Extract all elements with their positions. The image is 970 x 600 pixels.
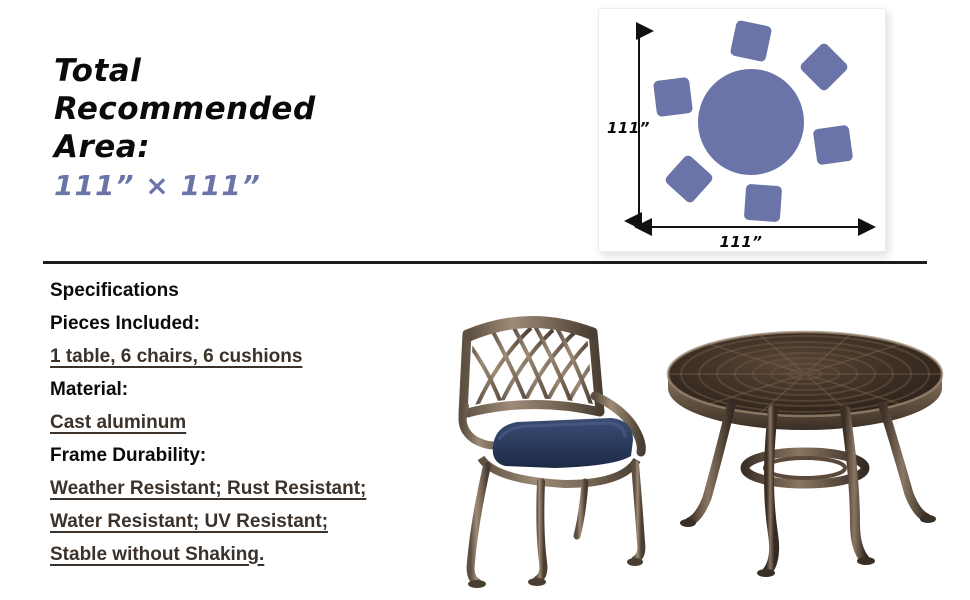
- table-leg-back-left: [689, 406, 731, 522]
- spec-value-pieces: 1 table, 6 chairs, 6 cushions: [50, 340, 470, 373]
- spec-label-material-text: Material:: [50, 379, 128, 401]
- headline-line-3: Area:: [54, 128, 474, 166]
- specifications-block: Specifications Pieces Included: 1 table,…: [50, 274, 470, 571]
- diagram-chair-5: [664, 154, 715, 205]
- table-foot-front-right: [857, 557, 875, 565]
- headline-line-2: Recommended: [54, 90, 474, 128]
- spec-label-durability-text: Frame Durability:: [50, 445, 206, 467]
- spec-value-material-text: Cast aluminum: [50, 412, 186, 434]
- diagram-chair-3: [813, 125, 854, 166]
- spec-label-durability: Frame Durability:: [50, 439, 470, 472]
- spec-value-durability-line1: Weather Resistant; Rust Resistant;: [50, 478, 366, 500]
- product-spec-infographic: Total Recommended Area: 111” × 111”: [0, 0, 970, 600]
- table-foot-back-right: [920, 515, 936, 523]
- chair-leg-back-right: [635, 464, 641, 560]
- vertical-dimension-label: 111”: [607, 119, 650, 137]
- chair-leg-front-right: [537, 482, 543, 580]
- spec-value-durability-2: Water Resistant; UV Resistant;: [50, 505, 470, 538]
- headline-line-1: Total: [54, 52, 474, 90]
- layout-diagram-card: 111” 111”: [598, 8, 886, 252]
- spec-label-material: Material:: [50, 373, 470, 406]
- chair-leg-back-mid: [577, 482, 585, 536]
- diagram-chair-4: [744, 184, 782, 222]
- spec-value-durability-line3: Stable without Shaking.: [50, 544, 264, 566]
- diagram-chair-6: [653, 77, 693, 117]
- horizontal-dimension-label: 111”: [720, 233, 763, 251]
- spec-label-pieces: Pieces Included:: [50, 307, 470, 340]
- spec-value-durability-1: Weather Resistant; Rust Resistant;: [50, 472, 470, 505]
- table-foot-back-left: [680, 519, 696, 527]
- section-divider: [43, 261, 927, 264]
- table-support-ring-inner: [765, 458, 845, 478]
- headline-dimensions: 111” × 111”: [54, 166, 474, 206]
- spec-value-durability-3: Stable without Shaking.: [50, 538, 470, 571]
- table-leg-front-left: [767, 410, 774, 572]
- specs-title: Specifications: [50, 280, 179, 302]
- spec-value-material: Cast aluminum: [50, 406, 470, 439]
- table-foot-front-left: [757, 569, 775, 577]
- spec-label-pieces-text: Pieces Included:: [50, 313, 200, 335]
- specs-title-row: Specifications: [50, 274, 470, 307]
- table-leg-back-right: [883, 406, 927, 518]
- table-leg-front-right: [845, 410, 865, 560]
- diagram-chair-2: [799, 42, 850, 93]
- diagram-chair-1: [730, 20, 773, 63]
- chair-foot-right: [528, 578, 546, 586]
- diagram-table-top-view: [698, 69, 804, 175]
- spec-value-pieces-text: 1 table, 6 chairs, 6 cushions: [50, 346, 302, 368]
- headline-block: Total Recommended Area: 111” × 111”: [54, 52, 474, 206]
- spec-value-durability-line2: Water Resistant; UV Resistant;: [50, 511, 328, 533]
- table-product-photo: [655, 322, 955, 587]
- chair-foot-left: [468, 580, 486, 588]
- chair-foot-back: [627, 558, 643, 566]
- chair-leg-front-left: [471, 466, 487, 582]
